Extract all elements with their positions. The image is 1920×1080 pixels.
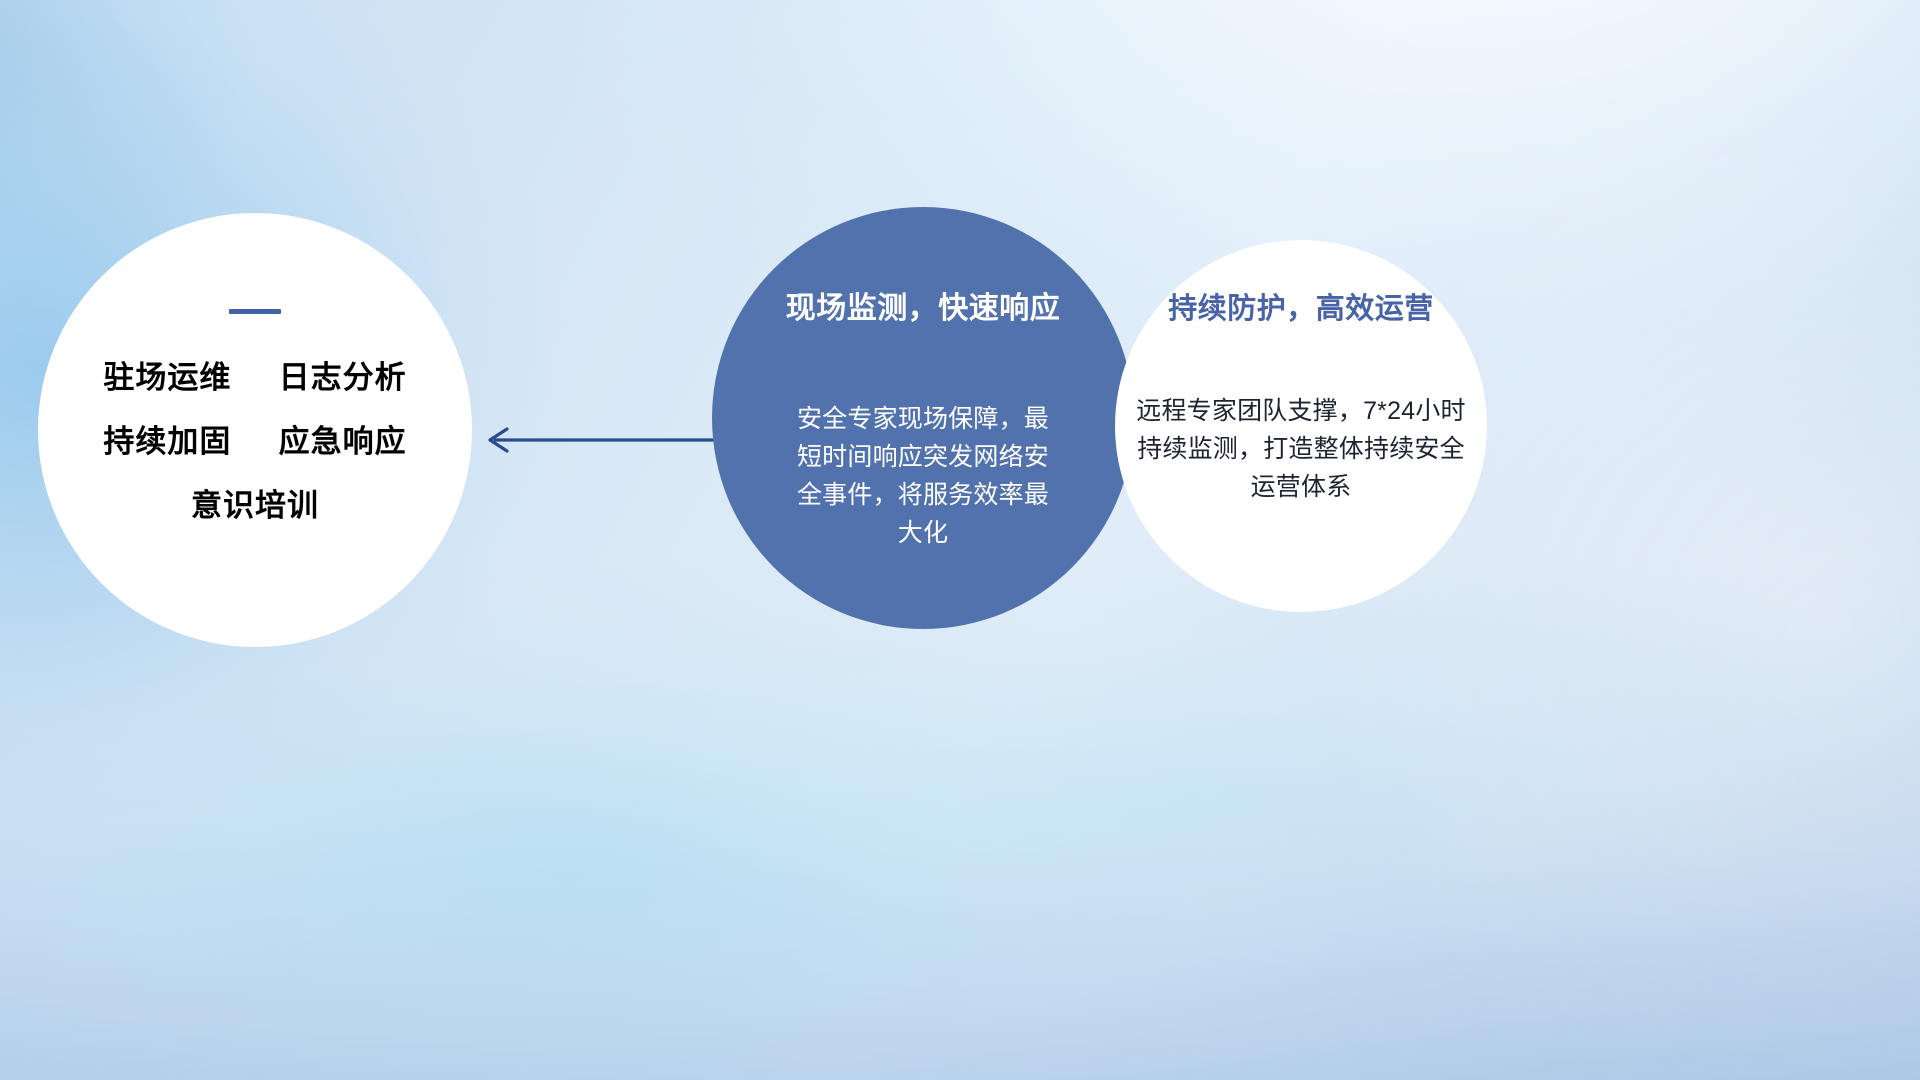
capability-label-emergency-response: 应急响应 bbox=[279, 424, 407, 459]
service-circle-continuous-protection[interactable]: 持续防护，高效运营 远程专家团队支撑，7*24小时持续监测，打造整体持续安全运营… bbox=[1115, 240, 1487, 612]
capability-circle-left[interactable]: 驻场运维 日志分析 持续加固 应急响应 意识培训 bbox=[38, 213, 472, 647]
service-circle-onsite-monitoring[interactable]: 现场监测，快速响应 安全专家现场保障，最短时间响应突发网络安全事件，将服务效率最… bbox=[712, 207, 1134, 629]
capability-row-2: 持续加固 应急响应 bbox=[103, 426, 406, 457]
service-description: 远程专家团队支撑，7*24小时持续监测，打造整体持续安全运营体系 bbox=[1136, 392, 1466, 506]
arrow-left-icon bbox=[480, 418, 720, 462]
capability-label-log-analysis: 日志分析 bbox=[279, 360, 407, 395]
capability-label-awareness-training: 意识培训 bbox=[191, 488, 319, 523]
service-description: 安全专家现场保障，最短时间响应突发网络安全事件，将服务效率最大化 bbox=[788, 400, 1058, 552]
service-title: 现场监测，快速响应 bbox=[786, 294, 1061, 324]
capability-label-onsite-ops: 驻场运维 bbox=[103, 360, 231, 395]
capability-row-3: 意识培训 bbox=[191, 490, 319, 521]
service-title: 持续防护，高效运营 bbox=[1168, 295, 1434, 324]
capability-row-1: 驻场运维 日志分析 bbox=[103, 362, 406, 393]
slide-canvas: 驻场运维 日志分析 持续加固 应急响应 意识培训 现场监测，快速响应 安全专家现… bbox=[0, 0, 1920, 1080]
capability-label-continuous-hardening: 持续加固 bbox=[103, 424, 231, 459]
divider-dash bbox=[229, 309, 281, 314]
